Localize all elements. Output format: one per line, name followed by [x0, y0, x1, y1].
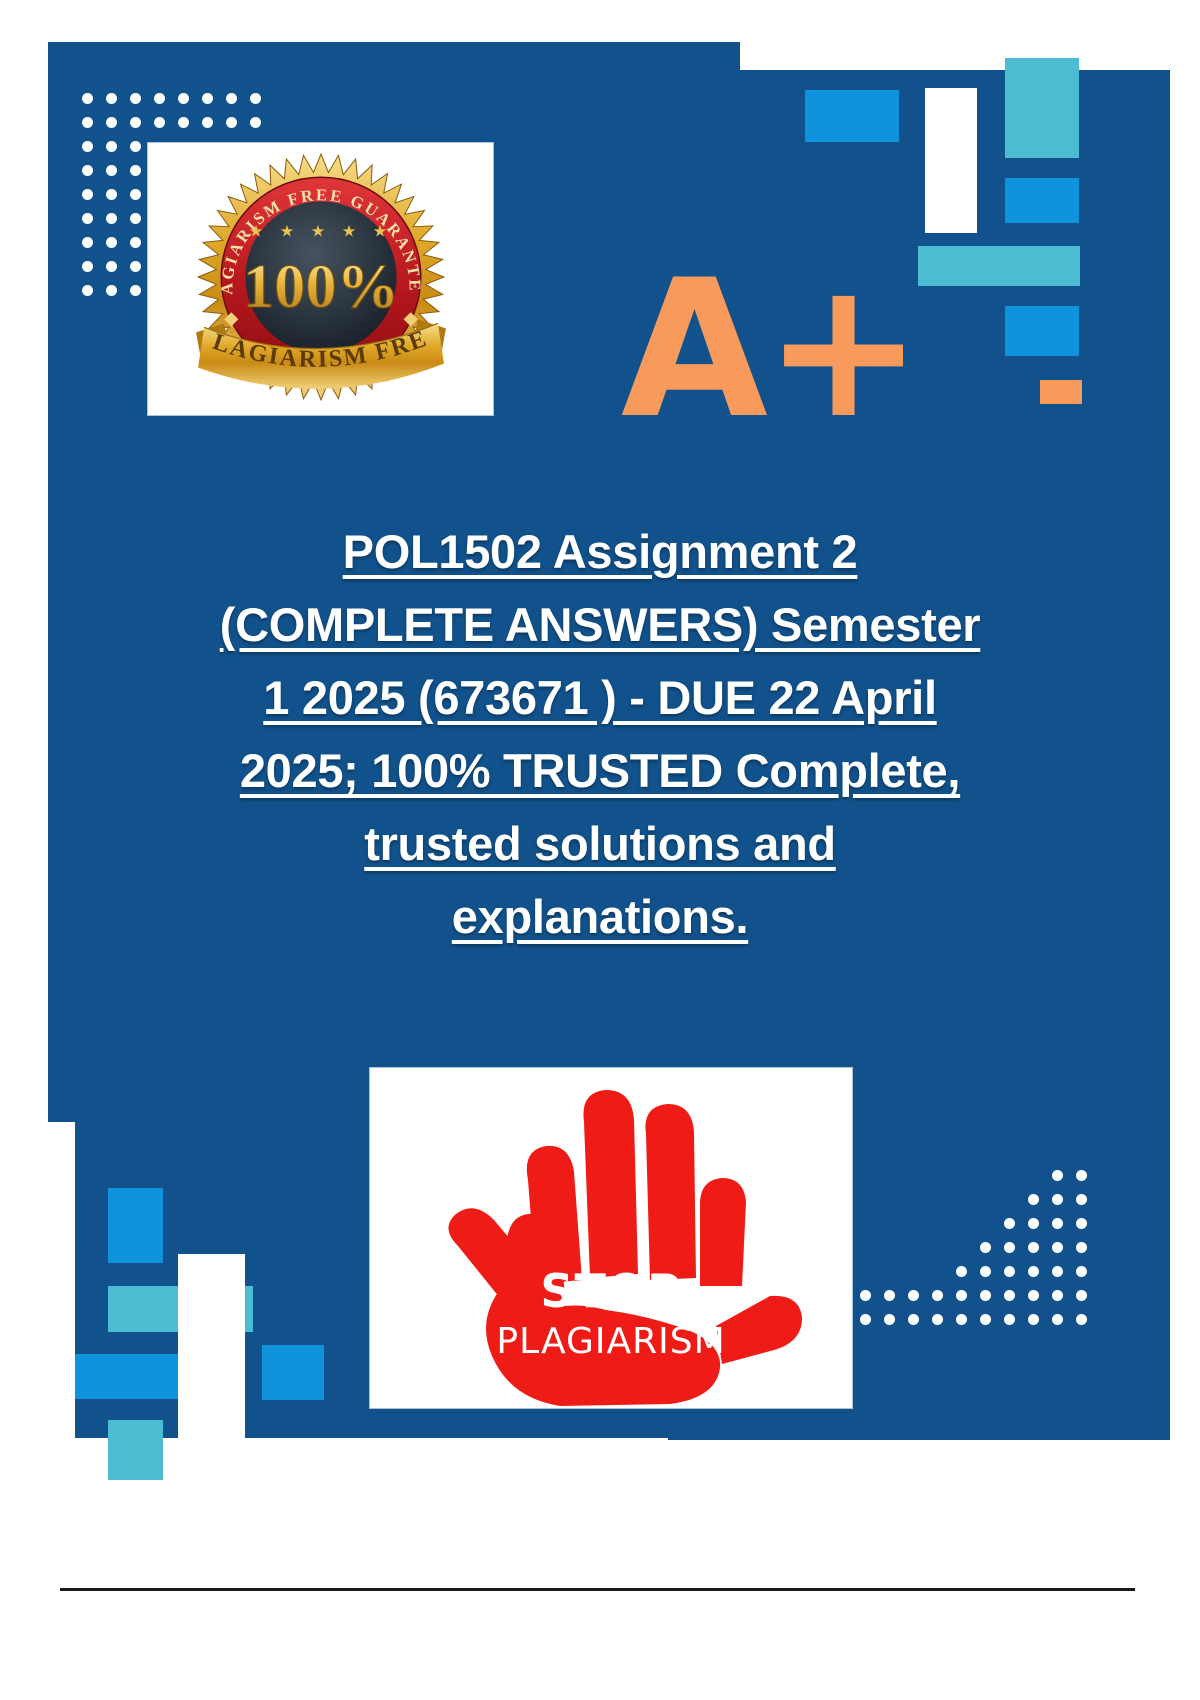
plagiarism-free-seal-card: PLAGIARISM FREE GUARANTEED ★ ★ ★ ★ ★ 100…	[148, 143, 493, 415]
grade-mark-a-plus: A+	[600, 262, 940, 437]
dot	[82, 237, 93, 248]
dot	[82, 93, 93, 104]
dot	[1028, 1314, 1039, 1325]
plagiarism-label: PLAGIARISM	[370, 1321, 852, 1362]
dot	[860, 1290, 871, 1301]
dot	[956, 1290, 967, 1301]
deco-rect-tr-teal-wide	[918, 246, 1080, 286]
dot	[130, 141, 141, 152]
dot	[202, 93, 213, 104]
deco-rect-tr-blue-sm2	[1005, 306, 1079, 356]
bottom-divider	[60, 1588, 1135, 1591]
deco-rect-tr-teal-tall	[1005, 58, 1079, 158]
stop-label: STOP	[370, 1264, 852, 1318]
dot	[106, 93, 117, 104]
dot	[1076, 1242, 1087, 1253]
dot	[980, 1290, 991, 1301]
dot	[106, 213, 117, 224]
seal-center-value: 100%	[242, 251, 398, 321]
deco-rect-bl-blue-3	[262, 1345, 324, 1400]
dot	[130, 93, 141, 104]
dot	[130, 237, 141, 248]
poster-canvas: PLAGIARISM FREE GUARANTEED ★ ★ ★ ★ ★ 100…	[0, 0, 1200, 1450]
stop-plagiarism-card: STOP PLAGIARISM	[370, 1068, 852, 1408]
dot	[1028, 1194, 1039, 1205]
dot	[1004, 1242, 1015, 1253]
dot	[106, 261, 117, 272]
dot	[202, 117, 213, 128]
dot	[1052, 1218, 1063, 1229]
dot	[1052, 1242, 1063, 1253]
dot	[130, 285, 141, 296]
dot	[1076, 1290, 1087, 1301]
page-title-line-3: 1 2025 (673671 ) - DUE 22 April	[40, 661, 1160, 734]
dot	[250, 93, 261, 104]
dot	[1052, 1314, 1063, 1325]
deco-rect-tr-blue-sm	[1005, 178, 1079, 223]
dot	[130, 189, 141, 200]
page-title-line-1: POL1502 Assignment 2	[40, 515, 1160, 588]
page-title-line-5: trusted solutions and	[40, 807, 1160, 880]
dot	[1028, 1290, 1039, 1301]
dot	[884, 1290, 895, 1301]
seal-stars: ★ ★ ★ ★ ★	[248, 223, 393, 241]
dot	[82, 189, 93, 200]
dot	[82, 165, 93, 176]
dot	[1004, 1314, 1015, 1325]
dot	[980, 1242, 991, 1253]
page-title-line-2: (COMPLETE ANSWERS) Semester	[40, 588, 1160, 661]
dot	[82, 285, 93, 296]
dot	[106, 141, 117, 152]
dot	[82, 141, 93, 152]
dot	[178, 117, 189, 128]
dot	[106, 189, 117, 200]
dot	[106, 117, 117, 128]
page-title-line-4: 2025; 100% TRUSTED Complete,	[40, 734, 1160, 807]
dot	[1052, 1290, 1063, 1301]
dot	[250, 117, 261, 128]
panel-foot-left	[75, 1418, 670, 1438]
dot	[178, 93, 189, 104]
deco-rect-bl-teal-2	[108, 1420, 163, 1480]
dot	[1004, 1266, 1015, 1277]
dot	[1076, 1266, 1087, 1277]
dot	[82, 117, 93, 128]
dot	[908, 1314, 919, 1325]
plagiarism-free-guarantee-seal: PLAGIARISM FREE GUARANTEED ★ ★ ★ ★ ★ 100…	[190, 148, 452, 410]
dot	[130, 261, 141, 272]
dot	[1028, 1218, 1039, 1229]
deco-rect-bl-blue-1	[108, 1188, 163, 1263]
dot	[956, 1314, 967, 1325]
dot	[932, 1290, 943, 1301]
dot	[1004, 1290, 1015, 1301]
dot	[130, 213, 141, 224]
dot	[860, 1314, 871, 1325]
page-title-line-6: explanations.	[40, 880, 1160, 953]
dot	[1028, 1242, 1039, 1253]
panel-top-step	[48, 42, 740, 72]
dot	[884, 1314, 895, 1325]
dot	[82, 261, 93, 272]
dot	[1076, 1314, 1087, 1325]
dot	[908, 1290, 919, 1301]
dot	[1076, 1170, 1087, 1181]
dot	[154, 93, 165, 104]
dot	[106, 285, 117, 296]
deco-rect-bl-blue-2	[75, 1354, 185, 1399]
dot	[1076, 1218, 1087, 1229]
deco-rect-bl-white-tall	[178, 1254, 245, 1438]
dot	[82, 213, 93, 224]
dot	[980, 1266, 991, 1277]
dot	[106, 165, 117, 176]
dot	[154, 117, 165, 128]
deco-rect-tr-white-tall	[925, 88, 977, 233]
dot	[1028, 1266, 1039, 1277]
page-title: POL1502 Assignment 2(COMPLETE ANSWERS) S…	[40, 515, 1160, 953]
dot	[1052, 1266, 1063, 1277]
dot	[1052, 1194, 1063, 1205]
dot	[1004, 1218, 1015, 1229]
deco-rect-tr-orange	[1040, 380, 1082, 404]
dot	[956, 1266, 967, 1277]
dot	[932, 1314, 943, 1325]
dot	[226, 93, 237, 104]
dot	[130, 165, 141, 176]
dot	[130, 117, 141, 128]
dot	[226, 117, 237, 128]
dot	[1076, 1194, 1087, 1205]
dot	[106, 237, 117, 248]
dot	[980, 1314, 991, 1325]
deco-rect-tr-1	[805, 90, 899, 142]
dot	[1052, 1170, 1063, 1181]
